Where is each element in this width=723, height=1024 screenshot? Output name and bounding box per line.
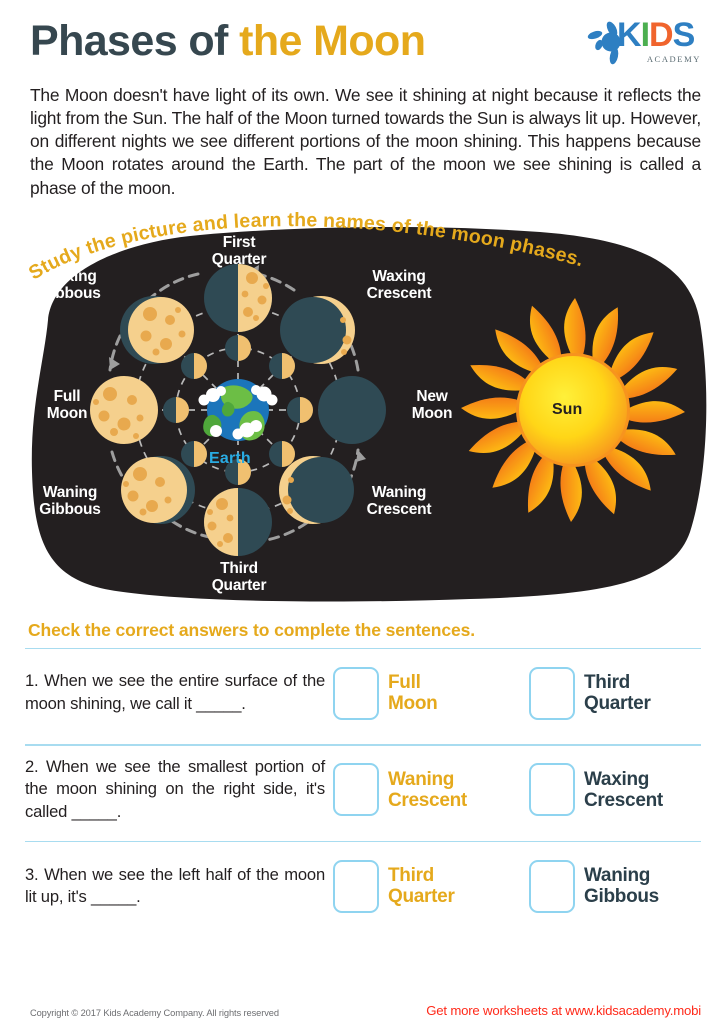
phase-moon-waning-gibbous bbox=[121, 456, 195, 524]
question-2-option-a[interactable]: Waning Crescent bbox=[333, 763, 529, 816]
phase-label-waning-gibbous: Waning Gibbous bbox=[18, 484, 122, 519]
phase-label-waxing-gibbous: Waxing Gibbous bbox=[18, 268, 122, 303]
exercise-heading: Check the correct answers to complete th… bbox=[28, 620, 723, 641]
question-1-text: 1. When we see the entire surface of the… bbox=[25, 670, 333, 716]
checkbox-2b[interactable] bbox=[529, 763, 575, 816]
title-part-dark: Phases of bbox=[30, 17, 239, 65]
question-1-option-b[interactable]: Third Quarter bbox=[529, 667, 651, 720]
phase-label-waning-crescent: Waning Crescent bbox=[344, 484, 454, 519]
phase-moon-new-moon bbox=[318, 376, 386, 444]
phase-moon-first-quarter bbox=[204, 264, 272, 332]
phase-moon-waning-crescent bbox=[279, 456, 354, 524]
option-2a-label: Waning Crescent bbox=[388, 769, 467, 812]
phase-label-waxing-crescent: Waxing Crescent bbox=[344, 268, 454, 303]
logo-letter-k: K bbox=[617, 16, 641, 54]
checkbox-3b[interactable] bbox=[529, 860, 575, 913]
phase-label-third-quarter: Third Quarter bbox=[196, 560, 282, 595]
logo-subtitle: ACADEMY bbox=[647, 54, 701, 64]
option-3b-label: Waning Gibbous bbox=[584, 865, 659, 908]
inner-moon-upper-right bbox=[269, 353, 295, 379]
question-1-option-a[interactable]: Full Moon bbox=[333, 667, 529, 720]
checkbox-2a[interactable] bbox=[333, 763, 379, 816]
question-row-2: 2. When we see the smallest portion of t… bbox=[0, 746, 723, 834]
moon-phases-diagram: Study the picture and learn the names of… bbox=[0, 212, 723, 612]
earth-label: Earth bbox=[209, 450, 251, 468]
inner-moon-lower-right bbox=[269, 441, 295, 467]
page-header: Phases of the Moon KIDS ACADEMY bbox=[0, 0, 723, 82]
option-1a-label: Full Moon bbox=[388, 672, 437, 715]
option-1b-label: Third Quarter bbox=[584, 672, 651, 715]
inner-moon-left bbox=[163, 397, 189, 423]
checkbox-1a[interactable] bbox=[333, 667, 379, 720]
inner-moon-right bbox=[287, 397, 313, 423]
phase-label-first-quarter: First Quarter bbox=[196, 234, 282, 269]
phase-moon-third-quarter bbox=[204, 488, 272, 556]
intro-paragraph: The Moon doesn't have light of its own. … bbox=[0, 82, 723, 200]
earth-graphic bbox=[199, 379, 278, 441]
page-footer: Copyright © 2017 Kids Academy Company. A… bbox=[0, 1003, 723, 1018]
phase-moon-waxing-gibbous bbox=[120, 296, 194, 364]
question-3-option-a[interactable]: Third Quarter bbox=[333, 860, 529, 913]
option-2b-label: Waxing Crescent bbox=[584, 769, 663, 812]
option-3a-label: Third Quarter bbox=[388, 865, 455, 908]
logo-wordmark: KIDS bbox=[617, 18, 694, 52]
title-part-gold: the Moon bbox=[239, 17, 425, 65]
question-3-option-b[interactable]: Waning Gibbous bbox=[529, 860, 659, 913]
checkbox-3a[interactable] bbox=[333, 860, 379, 913]
inner-moon-top bbox=[225, 335, 251, 361]
inner-moon-upper-left bbox=[181, 353, 207, 379]
kids-academy-logo: KIDS ACADEMY bbox=[587, 16, 705, 74]
logo-letter-i: I bbox=[641, 16, 649, 54]
logo-letter-s: S bbox=[673, 16, 695, 54]
checkbox-1b[interactable] bbox=[529, 667, 575, 720]
question-row-3: 3. When we see the left half of the moon… bbox=[0, 842, 723, 930]
question-row-1: 1. When we see the entire surface of the… bbox=[0, 649, 723, 737]
phase-label-new-moon: New Moon bbox=[390, 388, 474, 423]
inner-moon-lower-left bbox=[181, 441, 207, 467]
question-2-text: 2. When we see the smallest portion of t… bbox=[25, 756, 333, 825]
phase-moon-waxing-crescent bbox=[280, 296, 355, 364]
copyright-text: Copyright © 2017 Kids Academy Company. A… bbox=[30, 1008, 279, 1018]
promo-link[interactable]: Get more worksheets at www.kidsacademy.m… bbox=[426, 1003, 701, 1018]
question-2-option-b[interactable]: Waxing Crescent bbox=[529, 763, 663, 816]
sun-label: Sun bbox=[552, 401, 582, 419]
phase-label-full-moon: Full Moon bbox=[26, 388, 108, 423]
question-3-text: 3. When we see the left half of the moon… bbox=[25, 864, 333, 910]
logo-letter-d: D bbox=[649, 16, 673, 54]
